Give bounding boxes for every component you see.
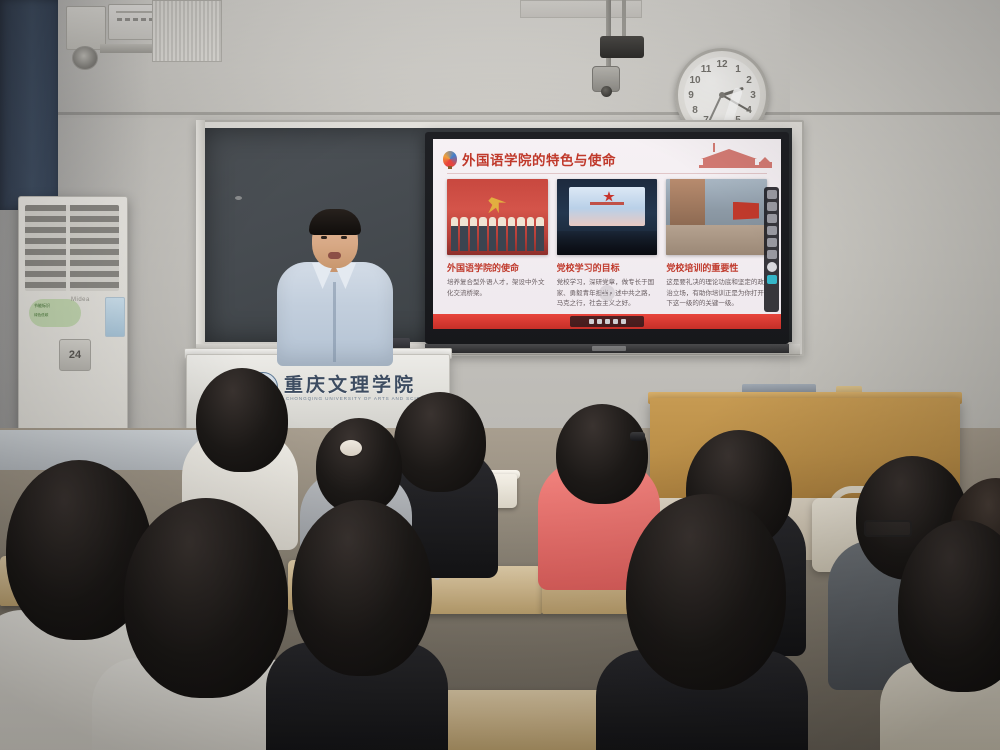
next-slide-icon[interactable]: [621, 319, 626, 324]
record-icon[interactable]: [767, 262, 777, 272]
presenter-eye-left: [321, 236, 327, 239]
slide-column: 党校培训的重要性 这是要礼决的理论功底和坚定的政治立场，有助你培训正是为你打开下…: [666, 179, 767, 310]
clock-numeral: 2: [743, 75, 755, 87]
pointer-icon[interactable]: [613, 319, 618, 324]
ac-display-value: 24: [69, 349, 81, 361]
hot-air-balloon-icon: [443, 151, 457, 167]
slide-photo-group: [447, 179, 548, 255]
ceiling-speaker-cone-icon: [72, 46, 98, 70]
ac-brand-mark: Midea: [71, 297, 90, 303]
ceiling-seam: [0, 112, 1000, 115]
blackboard-left-edge: [196, 120, 205, 352]
projector-icon: [600, 36, 644, 58]
smart-display-screen[interactable]: 外国语学院的特色与使命: [433, 139, 781, 329]
slide-photo-campus: [666, 179, 767, 255]
presenter-mouth: [328, 252, 341, 259]
slide-photo-lecture: [557, 179, 658, 255]
photo-audience: [557, 231, 658, 255]
clock-numeral: 11: [700, 64, 712, 76]
more-options-icon[interactable]: [599, 285, 615, 301]
podium-institution-name-cn: 重庆文理学院: [284, 370, 416, 397]
ac-side-sticker: [105, 297, 125, 337]
settings-icon[interactable]: [767, 275, 777, 284]
display-brand-logo: [592, 346, 626, 351]
capture-icon[interactable]: [767, 202, 777, 211]
list-icon[interactable]: [767, 238, 777, 247]
column-body: 这是要礼决的理论功底和坚定的政治立场，有助你培训正是为你打开下这一级的的关键一级…: [666, 278, 767, 310]
eyeglasses-icon: [864, 520, 912, 537]
slide-toolbar[interactable]: [570, 316, 644, 327]
landmark-silhouette-icon: [689, 143, 775, 169]
prev-slide-icon[interactable]: [589, 319, 594, 324]
clock-numeral: 3: [747, 90, 759, 102]
display-sidebar-toolbar[interactable]: [764, 187, 779, 312]
timer-icon[interactable]: [767, 226, 777, 235]
red-flag-icon: [733, 202, 759, 220]
ac-display-panel[interactable]: 24: [59, 339, 91, 371]
clock-numeral: 10: [689, 75, 701, 87]
pen-icon[interactable]: [605, 319, 610, 324]
hair-clip: [630, 432, 645, 441]
chalk-mark: [235, 196, 242, 200]
slide-column: 外国语学院的使命 培养复合型外语人才，架设中外文化交流桥梁。: [447, 179, 548, 310]
clock-numeral: 9: [685, 90, 697, 102]
photo-projection-screen: [569, 187, 646, 227]
ventilation-grille-icon: [152, 0, 222, 62]
classroom-photo-scene: 12 1 2 3 4 5 6 7 8 9 10 11 外国语学院的特色与使命: [0, 0, 1000, 750]
photo-building: [670, 179, 704, 226]
menu-icon[interactable]: [767, 250, 777, 259]
clock-numeral: 8: [689, 105, 701, 117]
ac-energy-label: 节能标识 绿色低碳: [29, 299, 81, 327]
photo-walkway: [666, 225, 767, 255]
party-emblem-icon: [488, 197, 506, 213]
clock-numeral: 12: [716, 59, 728, 71]
ac-vent-louvers: [25, 205, 119, 291]
presenter-shirt-placket: [333, 282, 336, 362]
clock-center-pin: [719, 92, 725, 98]
annotate-icon[interactable]: [767, 190, 777, 199]
presenter-hair: [309, 209, 361, 235]
camera-mount-arm: [606, 0, 611, 70]
keyboard-icon[interactable]: [767, 214, 777, 223]
ac-badge-text: 绿色低碳: [29, 313, 81, 318]
presenter-eye-right: [341, 236, 347, 239]
photo-people: [451, 217, 544, 251]
camera-lens-icon: [601, 86, 612, 97]
column-heading: 党校学习的目标: [557, 261, 658, 274]
slide-divider: [447, 173, 767, 174]
play-icon[interactable]: [597, 319, 602, 324]
column-body: 培养复合型外语人才，架设中外文化交流桥梁。: [447, 278, 548, 299]
floor-standing-air-conditioner: 节能标识 绿色低碳 Midea 24: [18, 196, 128, 434]
column-heading: 党校培训的重要性: [666, 261, 767, 274]
column-heading: 外国语学院的使命: [447, 261, 548, 274]
hair-scrunchie: [340, 440, 362, 456]
right-wall-panel: [790, 0, 1000, 430]
left-desk: [0, 430, 210, 470]
slide-title: 外国语学院的特色与使命: [462, 149, 616, 169]
presentation-slide[interactable]: 外国语学院的特色与使命: [433, 139, 781, 329]
